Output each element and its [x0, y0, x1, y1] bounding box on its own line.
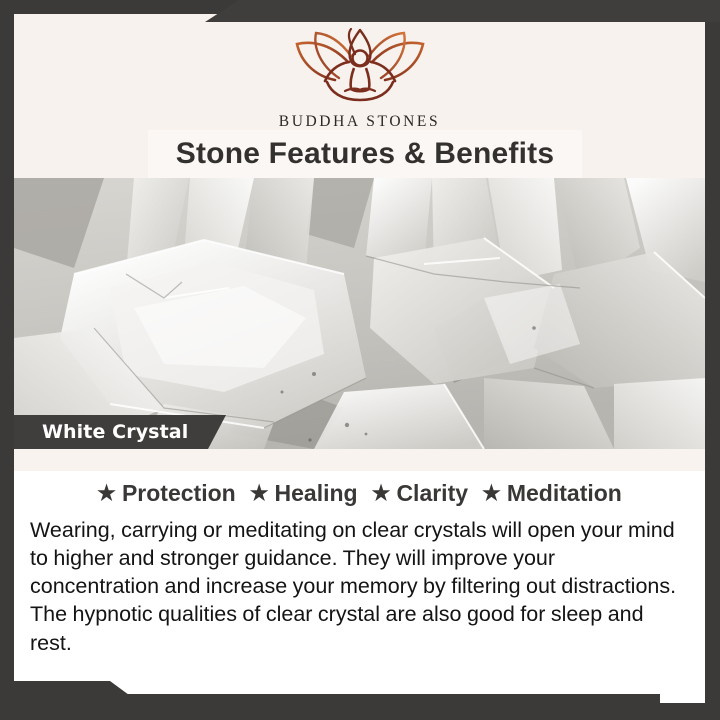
- crystal-photo: White Crystal: [14, 178, 705, 449]
- star-icon: ★: [372, 483, 391, 504]
- description-text: Wearing, carrying or meditating on clear…: [30, 516, 689, 657]
- content-panel: ★ Protection ★ Healing ★ Clarity ★ Medit…: [14, 471, 705, 703]
- benefit-label: Clarity: [396, 480, 468, 507]
- benefit-label: Healing: [275, 480, 358, 507]
- brand-wordmark: BUDDHA STONES: [14, 113, 705, 131]
- star-icon: ★: [97, 483, 116, 504]
- header: BUDDHA STONES Stone Features & Benefits: [14, 14, 705, 178]
- poster: BUDDHA STONES Stone Features & Benefits: [0, 0, 720, 720]
- photo-caption-label: White Crystal: [14, 421, 188, 443]
- star-icon: ★: [482, 483, 501, 504]
- photo-caption-badge: White Crystal: [14, 415, 226, 449]
- benefit-item: ★ Meditation: [482, 480, 622, 507]
- page-title: Stone Features & Benefits: [148, 137, 582, 171]
- benefit-item: ★ Clarity: [372, 480, 468, 507]
- poster-card: BUDDHA STONES Stone Features & Benefits: [14, 14, 705, 703]
- title-panel: Stone Features & Benefits: [148, 130, 582, 178]
- brand-logo: BUDDHA STONES: [14, 28, 705, 131]
- star-icon: ★: [250, 483, 269, 504]
- benefit-item: ★ Healing: [250, 480, 358, 507]
- divider-strip: [14, 449, 705, 471]
- benefits-row: ★ Protection ★ Healing ★ Clarity ★ Medit…: [14, 471, 705, 507]
- lotus-meditation-icon: [285, 28, 435, 111]
- benefit-label: Meditation: [507, 480, 622, 507]
- benefit-item: ★ Protection: [97, 480, 236, 507]
- frame-accent-top-right: [205, 0, 720, 22]
- benefit-label: Protection: [122, 480, 236, 507]
